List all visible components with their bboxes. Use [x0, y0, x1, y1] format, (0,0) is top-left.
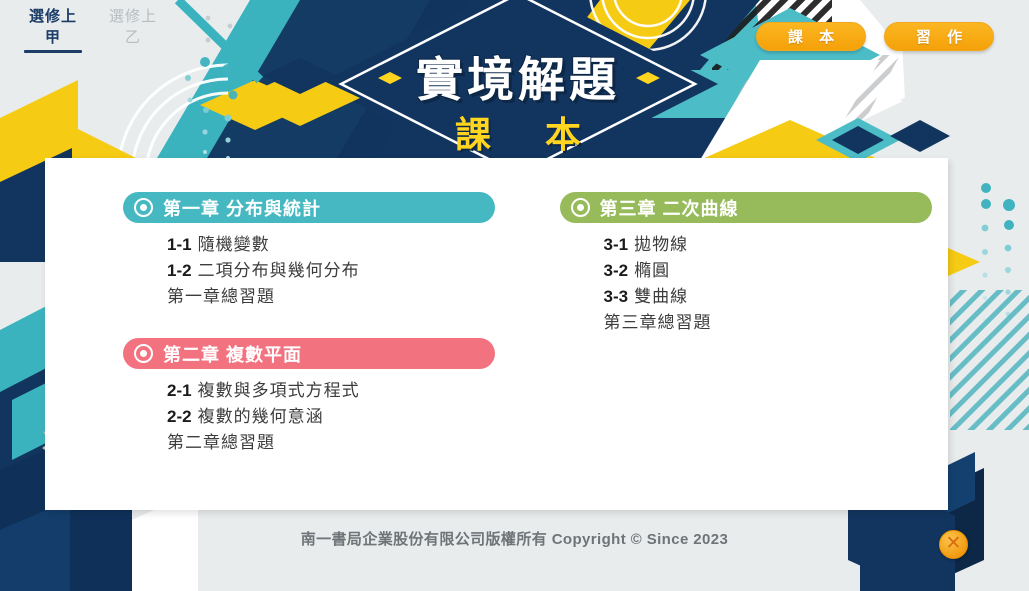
section-3-2[interactable]: 3-2橢圓: [604, 258, 949, 284]
section-3-3[interactable]: 3-3雙曲線: [604, 284, 949, 310]
top-right-buttons: 課 本 習 作: [756, 22, 994, 51]
section-3-review-label: 第三章總習題: [604, 313, 712, 332]
footer-copyright: 南一書局企業股份有限公司版權所有 Copyright © Since 2023: [0, 528, 1029, 549]
chapter-1-sections: 1-1隨機變數 1-2二項分布與幾何分布 第一章總習題: [123, 232, 497, 310]
chapter-column-left: 第一章 分布與統計 1-1隨機變數 1-2二項分布與幾何分布 第一章總習題: [45, 192, 497, 510]
chapter-1-title: 第一章 分布與統計: [163, 195, 321, 221]
section-2-2[interactable]: 2-2複數的幾何意涵: [167, 404, 497, 430]
tab-elective-a-line1: 選修上: [22, 6, 84, 27]
section-1-review[interactable]: 第一章總習題: [167, 284, 497, 310]
section-2-review[interactable]: 第二章總習題: [167, 430, 497, 456]
section-3-1-label: 拋物線: [634, 235, 688, 254]
chapter-2: 第二章 複數平面 2-1複數與多項式方程式 2-2複數的幾何意涵 第二章總習題: [123, 338, 497, 456]
chapter-1-header[interactable]: 第一章 分布與統計: [123, 192, 495, 223]
app-root: 選修上 甲 選修上 乙 實境解題 課 本 課 本 習 作 第一章 分布與統計: [0, 0, 1029, 591]
chapter-1: 第一章 分布與統計 1-1隨機變數 1-2二項分布與幾何分布 第一章總習題: [123, 192, 497, 310]
section-1-2-number: 1-2: [167, 261, 192, 280]
tab-elective-a[interactable]: 選修上 甲: [22, 6, 84, 56]
section-1-2-label: 二項分布與幾何分布: [198, 261, 360, 280]
section-3-1[interactable]: 3-1拋物線: [604, 232, 949, 258]
section-3-3-number: 3-3: [604, 287, 629, 306]
section-1-1[interactable]: 1-1隨機變數: [167, 232, 497, 258]
grade-tab-switcher: 選修上 甲 選修上 乙: [22, 6, 164, 56]
section-2-2-label: 複數的幾何意涵: [198, 407, 324, 426]
target-icon: [571, 198, 590, 217]
close-button[interactable]: ✕: [939, 530, 968, 559]
section-1-review-label: 第一章總習題: [167, 287, 275, 306]
tab-elective-b-line2: 乙: [102, 27, 164, 48]
section-3-3-label: 雙曲線: [634, 287, 688, 306]
chapter-column-right: 第三章 二次曲線 3-1拋物線 3-2橢圓 3-3雙曲線 第三: [497, 192, 949, 510]
target-icon: [134, 198, 153, 217]
section-2-review-label: 第二章總習題: [167, 433, 275, 452]
tab-elective-b[interactable]: 選修上 乙: [102, 6, 164, 51]
textbook-button[interactable]: 課 本: [756, 22, 866, 51]
tab-elective-a-line2: 甲: [22, 27, 84, 48]
section-1-2[interactable]: 1-2二項分布與幾何分布: [167, 258, 497, 284]
section-3-2-number: 3-2: [604, 261, 629, 280]
target-icon: [134, 344, 153, 363]
chapter-2-header[interactable]: 第二章 複數平面: [123, 338, 495, 369]
chapter-3-title: 第三章 二次曲線: [600, 195, 739, 221]
chapter-2-title: 第二章 複數平面: [163, 341, 302, 367]
workbook-button[interactable]: 習 作: [884, 22, 994, 51]
chapter-3-header[interactable]: 第三章 二次曲線: [560, 192, 932, 223]
section-1-1-label: 隨機變數: [198, 235, 270, 254]
chapter-3-sections: 3-1拋物線 3-2橢圓 3-3雙曲線 第三章總習題: [560, 232, 949, 336]
chapter-3: 第三章 二次曲線 3-1拋物線 3-2橢圓 3-3雙曲線 第三: [560, 192, 949, 336]
tab-elective-b-line1: 選修上: [102, 6, 164, 27]
section-2-2-number: 2-2: [167, 407, 192, 426]
chapter-panel: 第一章 分布與統計 1-1隨機變數 1-2二項分布與幾何分布 第一章總習題: [45, 158, 948, 510]
section-2-1[interactable]: 2-1複數與多項式方程式: [167, 378, 497, 404]
section-2-1-number: 2-1: [167, 381, 192, 400]
tab-active-underline: [24, 50, 82, 53]
chapter-2-sections: 2-1複數與多項式方程式 2-2複數的幾何意涵 第二章總習題: [123, 378, 497, 456]
section-2-1-label: 複數與多項式方程式: [198, 381, 360, 400]
section-3-2-label: 橢圓: [634, 261, 670, 280]
section-3-1-number: 3-1: [604, 235, 629, 254]
section-1-1-number: 1-1: [167, 235, 192, 254]
section-3-review[interactable]: 第三章總習題: [604, 310, 949, 336]
close-icon: ✕: [946, 534, 962, 553]
